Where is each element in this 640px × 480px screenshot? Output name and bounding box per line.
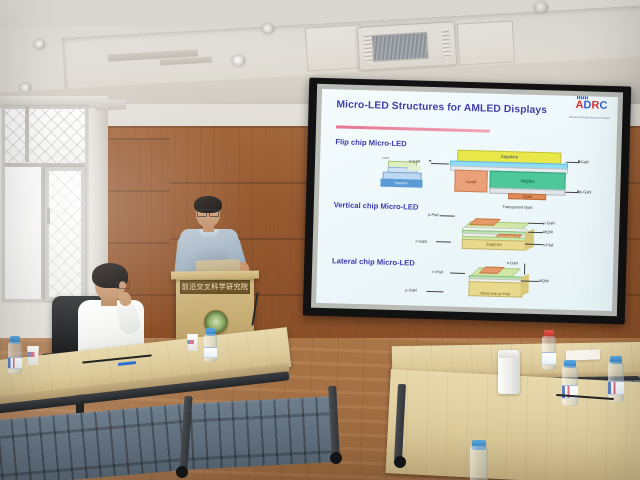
arrow-right-icon — [578, 160, 581, 162]
water-bottle[interactable] — [8, 336, 22, 374]
podium-sign-text: 前沿交叉科学研究院 — [182, 282, 249, 292]
inset-sapphire: Sapphire — [380, 179, 422, 188]
annotation-p-gan-vertical: p-GaN — [543, 220, 555, 225]
paper-cup[interactable] — [186, 334, 199, 351]
layer-n-pad: n-pad — [454, 170, 487, 193]
bottle-label-print — [8, 358, 22, 368]
vertical-chip-diagram: Sapphire — [460, 211, 538, 254]
water-bottle[interactable] — [562, 360, 578, 406]
downlight-icon — [534, 2, 548, 13]
attendee-glasses-icon — [116, 281, 130, 289]
paper-cup[interactable] — [26, 346, 40, 365]
section-label-flip-chip: Flip chip Micro-LED — [335, 137, 407, 148]
cup-print — [26, 352, 40, 357]
vchip-sapphire: Sapphire — [461, 239, 526, 251]
section-label-vertical-chip: Vertical chip Micro-LED — [334, 201, 419, 212]
podium-top-surface — [171, 271, 259, 280]
annotation-n-gan-vertical: n-GaN — [415, 238, 427, 243]
section-label-lateral-chip: Lateral chip Micro-LED — [332, 256, 415, 267]
podium-sign: 前沿交叉科学研究院 — [180, 280, 250, 294]
annotation-n-pad-lateral: n-Pad — [432, 269, 443, 274]
projection-screen: Micro-LED Structures for AMLED Displays … — [303, 78, 632, 325]
window-mullion-vertical-2 — [25, 106, 29, 162]
window-security-mesh — [5, 109, 85, 163]
annotation-n-pad-vertical: n-Pad — [543, 242, 554, 247]
bottle-body — [608, 362, 624, 402]
window-glass-left — [5, 167, 41, 299]
leader-line — [431, 163, 449, 164]
bottle-body — [204, 334, 217, 362]
ceiling-access-panel-2 — [457, 20, 515, 65]
water-bottle[interactable] — [204, 328, 217, 362]
table-caster — [394, 456, 406, 468]
water-bottle[interactable] — [608, 356, 624, 402]
ac-fin-left — [363, 33, 371, 63]
annotation-p-gan-lateral: p-GaN — [405, 287, 417, 292]
annotation-p-gan: p-GaN — [580, 189, 592, 194]
window-security-mesh-2 — [49, 171, 81, 297]
downlight-icon — [232, 56, 245, 66]
annotation-p-pad-vertical: p-Pad — [428, 212, 439, 217]
bottle-body — [562, 366, 578, 406]
leader-line — [440, 215, 455, 216]
water-bottle-foreground[interactable] — [470, 440, 488, 480]
cup-print — [186, 340, 199, 344]
annotation-gan: GaN — [581, 159, 589, 164]
thermos-cap — [499, 350, 519, 358]
layer-p-pad: p-pad — [508, 193, 546, 201]
bottle-label — [8, 357, 22, 369]
flip-chip-stack: Sapphire MQWs n-pad p-pad — [449, 149, 569, 199]
lchip-side-face — [520, 273, 528, 295]
slide-title: Micro-LED Structures for AMLED Displays — [336, 99, 547, 116]
thermos-flask[interactable] — [498, 350, 520, 394]
table-caster — [176, 466, 188, 478]
arrow-left-icon — [428, 160, 431, 162]
blind-rail-side — [96, 99, 126, 111]
table-caster — [330, 452, 342, 464]
arrow-right-icon — [577, 190, 580, 192]
window-handle[interactable] — [47, 208, 50, 224]
annotation-transparent-layer: Transparent layer — [502, 204, 532, 210]
slide-title-underline — [336, 126, 490, 133]
bottle-label-print — [608, 382, 624, 394]
adrc-logo: ADRC — [575, 100, 607, 112]
downlight-icon — [34, 40, 45, 49]
projected-slide: Micro-LED Structures for AMLED Displays … — [316, 89, 618, 311]
leader-line — [426, 290, 444, 291]
logo-subtitle: Advanced Display Research Center — [569, 116, 610, 120]
ceiling-access-panel — [305, 24, 364, 71]
logo-letter-c: C — [599, 100, 607, 112]
bottle-label — [542, 352, 556, 364]
ceiling-ac-cassette — [357, 21, 457, 71]
lateral-chip-diagram: Metal Sub (p-Pad) — [464, 264, 530, 302]
bottle-body — [470, 446, 488, 480]
downlight-icon — [262, 24, 274, 34]
table-modesty-panel-center — [184, 396, 333, 470]
bottle-label — [204, 347, 217, 357]
bottle-body — [8, 342, 22, 374]
photo-scene: Micro-LED Structures for AMLED Displays … — [0, 0, 640, 480]
leader-line — [450, 272, 465, 273]
inset-layer-3 — [407, 166, 420, 170]
ac-fin-right — [443, 28, 451, 58]
annotation-mqw-vertical: MQW — [543, 229, 553, 234]
window-glass-upper — [5, 109, 85, 163]
glasses-icon — [197, 209, 219, 215]
document-sheet[interactable] — [566, 349, 600, 360]
bottle-label — [608, 381, 624, 395]
water-bottle[interactable] — [542, 330, 556, 370]
annotation-mqw-lateral: MQW — [539, 278, 549, 283]
leader-line — [436, 242, 451, 243]
inset-annotation: p-pad — [382, 157, 389, 160]
ac-grille — [372, 32, 429, 62]
bottle-body — [542, 336, 556, 370]
annotation-n-gan-flip: n-GaN — [409, 159, 421, 164]
lchip-metal-sub: Metal Sub (p-Pad) — [468, 281, 522, 298]
window-glass-sash — [49, 171, 81, 297]
annotation-n-gan-lateral: n-GaN — [507, 260, 519, 265]
